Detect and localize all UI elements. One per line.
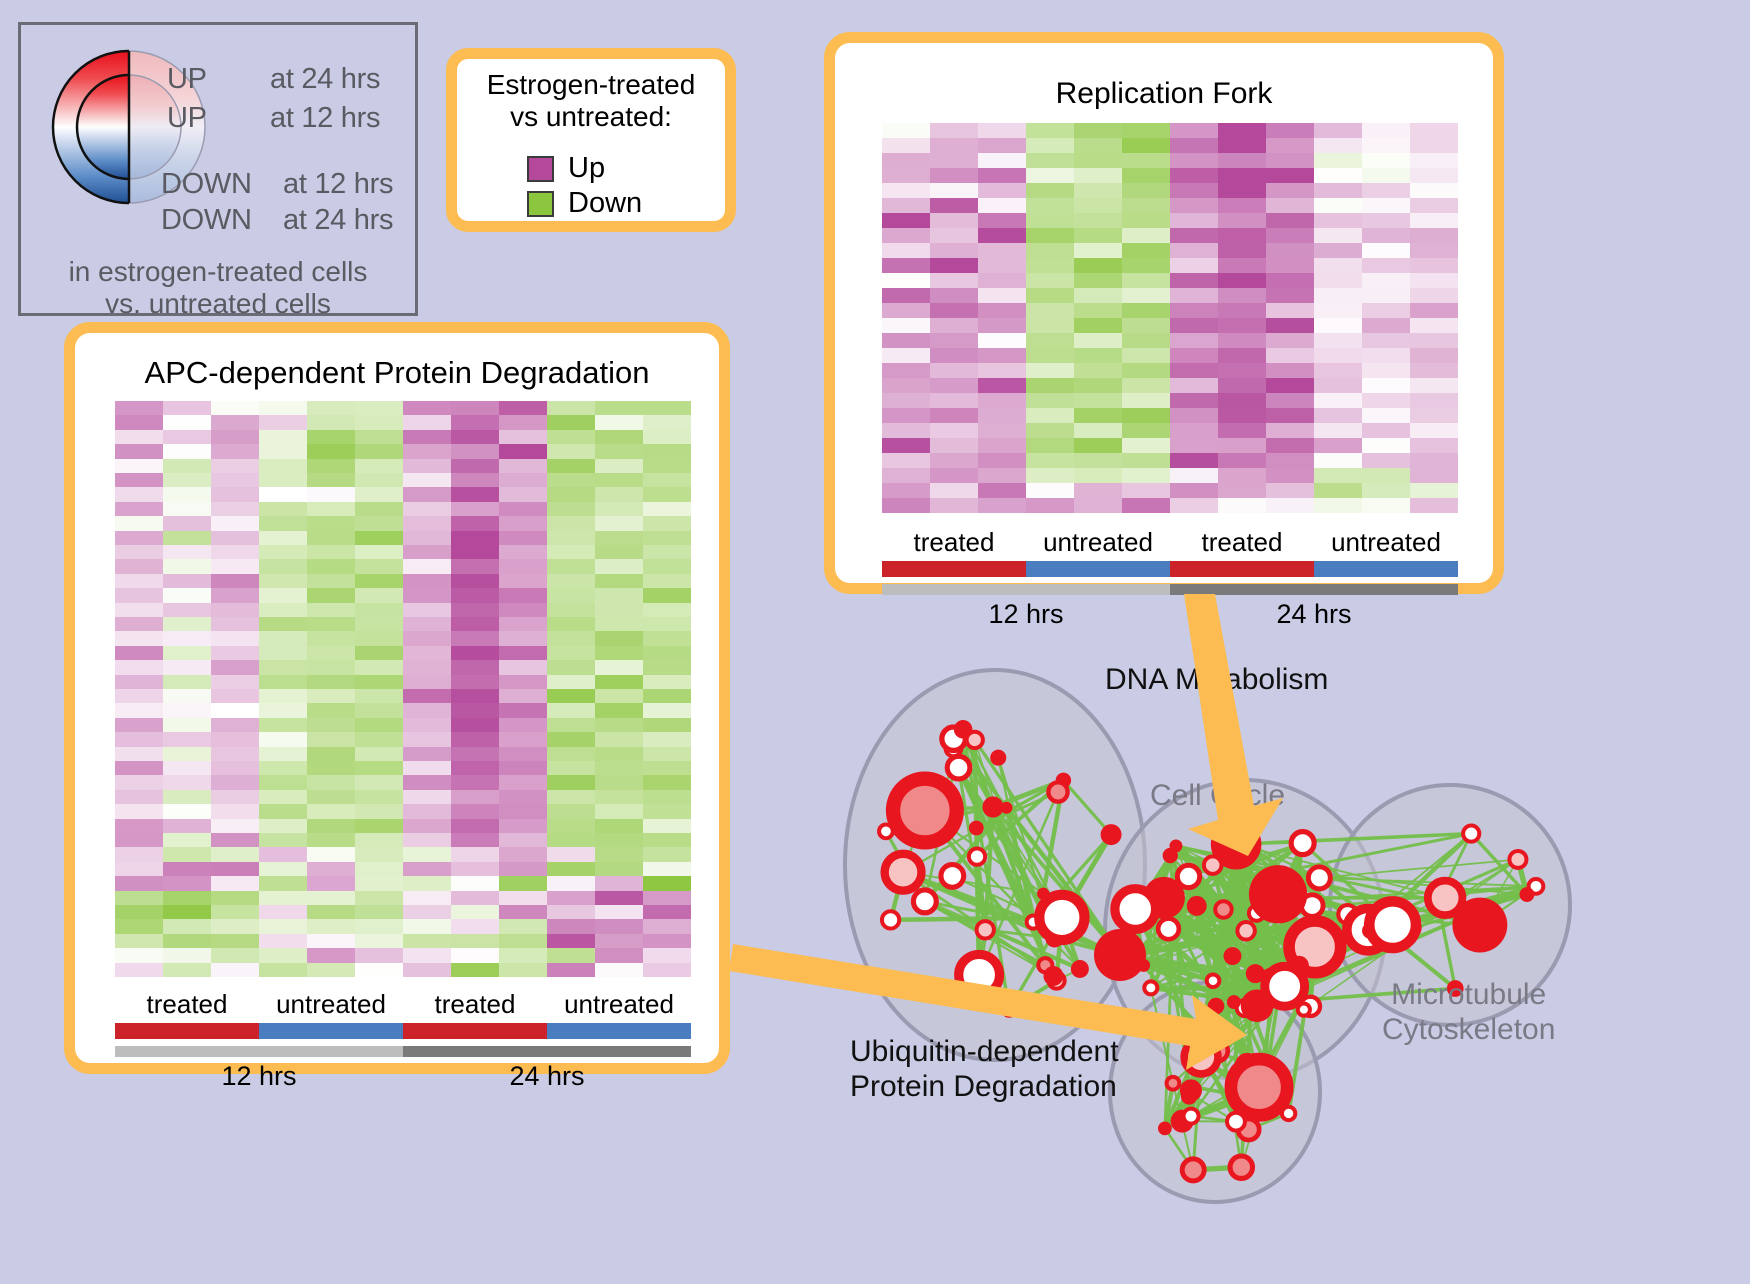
heatmap-cell — [499, 545, 547, 559]
heatmap-cell — [1218, 378, 1266, 393]
heatmap-cell — [259, 487, 307, 501]
heatmap-cell — [1362, 303, 1410, 318]
heatmap-cell — [355, 747, 403, 761]
heatmap-cell — [403, 646, 451, 660]
estrogen-legend-title: Estrogen-treated vs untreated: — [457, 69, 725, 134]
heatmap-cell — [547, 761, 595, 775]
heatmap-cell — [451, 574, 499, 588]
heatmap-cell — [451, 675, 499, 689]
heatmap-cell — [307, 617, 355, 631]
heatmap-cell — [499, 689, 547, 703]
heatmap-cell — [499, 819, 547, 833]
network-node — [1180, 1079, 1202, 1101]
heatmap-cell — [1314, 438, 1362, 453]
heatmap-cell — [547, 660, 595, 674]
heatmap-cell — [307, 646, 355, 660]
estrogen-legend-title-line2: vs untreated: — [457, 101, 725, 133]
heatmap-cell — [547, 516, 595, 530]
heatmap-cell — [259, 819, 307, 833]
heatmap-cell — [355, 487, 403, 501]
network-node — [1227, 995, 1241, 1009]
heatmap-cell — [355, 718, 403, 732]
heatmap-cell — [259, 747, 307, 761]
heatmap-cell — [547, 948, 595, 962]
heatmap-cell — [1410, 423, 1458, 438]
heatmap-cell — [355, 862, 403, 876]
heatmap-cell — [403, 790, 451, 804]
heatmap-cell — [1362, 168, 1410, 183]
heatmap-cell — [978, 378, 1026, 393]
sample-group-color-bar — [882, 561, 1458, 577]
sample-group-label-treated-2: treated — [1170, 527, 1314, 558]
network-node — [1071, 960, 1089, 978]
heatmap-cell — [1314, 138, 1362, 153]
heatmap-cell — [1362, 378, 1410, 393]
heatmap-cell — [259, 905, 307, 919]
heatmap-cell — [355, 934, 403, 948]
heatmap-cell — [499, 502, 547, 516]
heatmap-cell — [211, 459, 259, 473]
heatmap-cell — [1170, 258, 1218, 273]
heatmap-cell — [1074, 453, 1122, 468]
heatmap-cell — [403, 516, 451, 530]
heatmap-cell — [595, 790, 643, 804]
heatmap-cell — [547, 804, 595, 818]
heatmap-cell — [1266, 123, 1314, 138]
heatmap-cell — [115, 531, 163, 545]
network-node — [1265, 966, 1305, 1006]
heatmap-cell — [1122, 423, 1170, 438]
heatmap-cell — [882, 483, 930, 498]
heatmap-cell — [595, 588, 643, 602]
heatmap-cell — [547, 574, 595, 588]
heatmap-cell — [1410, 498, 1458, 513]
heatmap-cell — [882, 408, 930, 423]
heatmap-cell — [499, 617, 547, 631]
heatmap-cell — [1266, 318, 1314, 333]
heatmap-cell — [1362, 258, 1410, 273]
heatmap-cell — [882, 318, 930, 333]
heatmap-cell — [1218, 408, 1266, 423]
heatmap-cell — [1218, 228, 1266, 243]
heatmap-cell — [259, 761, 307, 775]
heatmap-cell — [643, 819, 691, 833]
heatmap-cell — [930, 483, 978, 498]
heatmap-cell — [978, 393, 1026, 408]
heatmap-cell — [451, 891, 499, 905]
heatmap-cell — [882, 258, 930, 273]
heatmap-cell — [930, 378, 978, 393]
heatmap-cell — [643, 603, 691, 617]
heatmap-cell — [1362, 243, 1410, 258]
heatmap-cell — [595, 444, 643, 458]
heatmap-cell — [1218, 498, 1266, 513]
heatmap-cell — [595, 430, 643, 444]
colorwheel-down-24-label: DOWN — [161, 204, 252, 237]
heatmap-cell — [1026, 243, 1074, 258]
heatmap-cell — [930, 213, 978, 228]
heatmap-cell — [930, 468, 978, 483]
sample-group-label-untreated-1: untreated — [259, 989, 403, 1020]
heatmap-cell — [643, 862, 691, 876]
heatmap-cell — [1410, 378, 1458, 393]
heatmap-cell — [211, 775, 259, 789]
heatmap-cell — [930, 198, 978, 213]
network-node — [1198, 1011, 1210, 1023]
cluster-label-cell-cycle: Cell Cycle — [1150, 778, 1285, 813]
heatmap-cell — [643, 948, 691, 962]
heatmap-cell — [1074, 318, 1122, 333]
heatmap-cell — [595, 876, 643, 890]
heatmap-cell — [115, 732, 163, 746]
heatmap-cell — [595, 833, 643, 847]
heatmap-cell — [643, 617, 691, 631]
heatmap-cell — [115, 703, 163, 717]
network-node — [1048, 782, 1067, 801]
heatmap-cell — [499, 833, 547, 847]
heatmap-cell — [355, 516, 403, 530]
heatmap-cell — [1170, 378, 1218, 393]
heatmap-cell — [643, 502, 691, 516]
heatmap-cell — [1218, 168, 1266, 183]
heatmap-cell — [259, 574, 307, 588]
heatmap-cell — [403, 804, 451, 818]
heatmap-cell — [451, 847, 499, 861]
heatmap-cell — [1314, 363, 1362, 378]
heatmap-cell — [211, 761, 259, 775]
heatmap-cell — [643, 876, 691, 890]
heatmap-cell — [1362, 393, 1410, 408]
heatmap-cell — [643, 588, 691, 602]
heatmap-cell — [1170, 198, 1218, 213]
heatmap-cell — [115, 761, 163, 775]
heatmap-cell — [930, 453, 978, 468]
heatmap-cell — [1314, 408, 1362, 423]
network-node — [1509, 851, 1526, 868]
heatmap-cell — [1410, 168, 1458, 183]
heatmap-cell — [403, 703, 451, 717]
heatmap-cell — [451, 919, 499, 933]
heatmap-cell — [451, 516, 499, 530]
heatmap-cell — [403, 934, 451, 948]
heatmap-cell — [163, 444, 211, 458]
heatmap-cell — [355, 804, 403, 818]
heatmap-cell — [643, 631, 691, 645]
heatmap-cell — [595, 675, 643, 689]
heatmap-cell — [1218, 453, 1266, 468]
heatmap-cell — [115, 675, 163, 689]
heatmap-cell — [355, 761, 403, 775]
heatmap-cell — [595, 891, 643, 905]
heatmap-cell — [307, 703, 355, 717]
heatmap-cell — [163, 790, 211, 804]
heatmap-cell — [1410, 363, 1458, 378]
network-node — [1182, 1159, 1204, 1181]
heatmap-cell — [451, 646, 499, 660]
heatmap-cell — [259, 963, 307, 977]
heatmap-cell — [1410, 153, 1458, 168]
network-node — [959, 954, 1000, 995]
heatmap-cell — [163, 473, 211, 487]
heatmap-cell — [1122, 363, 1170, 378]
heatmap-cell — [978, 183, 1026, 198]
heatmap-cell — [499, 675, 547, 689]
heatmap-cell — [115, 876, 163, 890]
heatmap-cell — [1410, 318, 1458, 333]
heatmap-cell — [643, 675, 691, 689]
heatmap-cell — [403, 948, 451, 962]
heatmap-cell — [978, 333, 1026, 348]
heatmap-cell — [930, 138, 978, 153]
heatmap-cell — [1170, 138, 1218, 153]
network-node — [1043, 966, 1063, 986]
heatmap-cell — [1122, 288, 1170, 303]
heatmap-cell — [499, 804, 547, 818]
heatmap-cell — [882, 213, 930, 228]
network-node — [1163, 848, 1178, 863]
heatmap-cell — [930, 168, 978, 183]
heatmap-cell — [1026, 468, 1074, 483]
heatmap-cell — [211, 747, 259, 761]
heatmap-cell — [355, 559, 403, 573]
heatmap-cell — [259, 862, 307, 876]
heatmap-cell — [930, 288, 978, 303]
heatmap-cell — [1170, 183, 1218, 198]
heatmap-cell — [643, 804, 691, 818]
network-node — [879, 824, 893, 838]
heatmap-cell — [1074, 438, 1122, 453]
colorwheel-up-12-label: UP — [167, 102, 207, 135]
heatmap-cell — [355, 703, 403, 717]
heatmap-cell — [1026, 483, 1074, 498]
colorwheel-at-down-12-label: at 12 hrs — [283, 168, 393, 201]
network-node — [1224, 947, 1242, 965]
heatmap-cell — [1074, 408, 1122, 423]
heatmap-cell — [930, 393, 978, 408]
heatmap-cell — [115, 747, 163, 761]
heatmap-cell — [1218, 198, 1266, 213]
heatmap-cell — [643, 444, 691, 458]
heatmap-cell — [307, 444, 355, 458]
heatmap-cell — [930, 318, 978, 333]
estrogen-legend-title-line1: Estrogen-treated — [457, 69, 725, 101]
heatmap-cell — [1074, 363, 1122, 378]
heatmap-cell — [978, 483, 1026, 498]
heatmap-cell — [403, 401, 451, 415]
heatmap-cell — [643, 689, 691, 703]
heatmap-cell — [211, 473, 259, 487]
heatmap-cell — [547, 531, 595, 545]
heatmap-cell — [547, 747, 595, 761]
heatmap-cell — [643, 919, 691, 933]
heatmap-cell — [403, 631, 451, 645]
heatmap-cell — [930, 303, 978, 318]
heatmap-cell — [451, 963, 499, 977]
colorwheel-at-24-label: at 24 hrs — [270, 63, 380, 96]
heatmap-cell — [499, 747, 547, 761]
heatmap-cell — [211, 833, 259, 847]
heatmap-cell — [259, 559, 307, 573]
heatmap-cell — [163, 487, 211, 501]
heatmap-cell — [595, 905, 643, 919]
heatmap-cell — [259, 646, 307, 660]
timepoint-swatch-1 — [403, 1046, 691, 1057]
heatmap-cell — [1074, 183, 1122, 198]
heatmap-cell — [1314, 318, 1362, 333]
heatmap-cell — [1410, 213, 1458, 228]
heatmap-cell — [1170, 453, 1218, 468]
heatmap-cell — [307, 459, 355, 473]
heatmap-cell — [307, 516, 355, 530]
heatmap-cell — [499, 732, 547, 746]
heatmap-cell — [451, 660, 499, 674]
heatmap-cell — [115, 919, 163, 933]
heatmap-cell — [259, 790, 307, 804]
heatmap-cell — [163, 876, 211, 890]
heatmap-cell — [403, 660, 451, 674]
heatmap-cell — [1410, 288, 1458, 303]
heatmap-cell — [499, 948, 547, 962]
network-node — [1519, 887, 1534, 902]
heatmap-cell — [1266, 348, 1314, 363]
sample-group-color-bar — [115, 1023, 691, 1039]
legend-item-up: Up — [527, 151, 642, 186]
heatmap-cell — [259, 516, 307, 530]
heatmap-cell — [355, 675, 403, 689]
heatmap-cell — [163, 747, 211, 761]
heatmap-cell — [163, 545, 211, 559]
heatmap-cell — [259, 891, 307, 905]
heatmap-cell — [451, 430, 499, 444]
network-node — [1208, 998, 1225, 1015]
heatmap-cell — [211, 444, 259, 458]
heatmap-cell — [1122, 333, 1170, 348]
heatmap-cell — [259, 934, 307, 948]
heatmap-cell — [1026, 378, 1074, 393]
heatmap-cell — [643, 934, 691, 948]
heatmap-cell — [451, 559, 499, 573]
heatmap-cell — [643, 747, 691, 761]
heatmap-cell — [1266, 153, 1314, 168]
heatmap-cell — [1218, 183, 1266, 198]
heatmap-cell — [1122, 123, 1170, 138]
heatmap-cell — [1122, 468, 1170, 483]
heatmap-cell — [403, 603, 451, 617]
heatmap-cell — [355, 459, 403, 473]
heatmap-cell — [403, 761, 451, 775]
heatmap-cell — [307, 631, 355, 645]
heatmap-cell — [882, 498, 930, 513]
heatmap-cell — [163, 833, 211, 847]
heatmap-cell — [643, 401, 691, 415]
heatmap-cell — [595, 473, 643, 487]
heatmap-cell — [211, 876, 259, 890]
heatmap-cell — [403, 732, 451, 746]
heatmap-cell — [547, 876, 595, 890]
heatmap-cell — [1122, 168, 1170, 183]
heatmap-cell — [595, 919, 643, 933]
heatmap-cell — [307, 531, 355, 545]
heatmap-cell — [163, 963, 211, 977]
heatmap-cell — [307, 919, 355, 933]
heatmap-cell — [1266, 483, 1314, 498]
heatmap-cell — [163, 804, 211, 818]
heatmap-cell — [547, 833, 595, 847]
heatmap-cell — [1218, 243, 1266, 258]
heatmap-cell — [211, 819, 259, 833]
heatmap-cell — [1026, 393, 1074, 408]
heatmap-cell — [115, 430, 163, 444]
heatmap-cell — [1266, 228, 1314, 243]
heatmap-cell — [499, 473, 547, 487]
heatmap-cell — [115, 718, 163, 732]
heatmap-cell — [403, 487, 451, 501]
network-node — [1463, 826, 1479, 842]
heatmap-cell — [259, 847, 307, 861]
heatmap-cell — [307, 963, 355, 977]
heatmap-cell — [1410, 273, 1458, 288]
heatmap-cell — [211, 401, 259, 415]
heatmap-cell — [451, 905, 499, 919]
heatmap-cell — [882, 453, 930, 468]
heatmap-cell — [1410, 258, 1458, 273]
heatmap-cell — [355, 646, 403, 660]
heatmap-cell — [1266, 183, 1314, 198]
heatmap-cell — [930, 273, 978, 288]
heatmap-cell — [307, 401, 355, 415]
heatmap-cell — [1266, 378, 1314, 393]
heatmap-cell — [978, 258, 1026, 273]
replication-fork-heatmap — [882, 123, 1458, 513]
network-node — [1249, 865, 1307, 923]
heatmap-cell — [115, 487, 163, 501]
timepoint-color-bar — [115, 1046, 691, 1057]
heatmap-cell — [307, 502, 355, 516]
heatmap-cell — [1074, 483, 1122, 498]
sample-group-label-treated-0: treated — [115, 989, 259, 1020]
heatmap-cell — [403, 473, 451, 487]
heatmap-cell — [211, 545, 259, 559]
heatmap-cell — [643, 559, 691, 573]
heatmap-cell — [163, 905, 211, 919]
heatmap-cell — [307, 804, 355, 818]
heatmap-cell — [1026, 423, 1074, 438]
heatmap-cell — [499, 761, 547, 775]
network-node — [1237, 922, 1255, 940]
heatmap-cell — [1314, 288, 1362, 303]
heatmap-cell — [259, 948, 307, 962]
network-node — [990, 750, 1006, 766]
heatmap-cell — [355, 948, 403, 962]
timepoint-swatch-0 — [115, 1046, 403, 1057]
heatmap-cell — [1122, 258, 1170, 273]
heatmap-cell — [1026, 363, 1074, 378]
colorwheel-at-down-24-label: at 24 hrs — [283, 204, 393, 237]
heatmap-cell — [595, 819, 643, 833]
heatmap-cell — [307, 847, 355, 861]
heatmap-cell — [403, 559, 451, 573]
heatmap-cell — [259, 617, 307, 631]
colorwheel-up-24-label: UP — [167, 63, 207, 96]
heatmap-cell — [930, 153, 978, 168]
heatmap-cell — [978, 273, 1026, 288]
heatmap-cell — [595, 804, 643, 818]
heatmap-cell — [1266, 408, 1314, 423]
heatmap-cell — [1122, 378, 1170, 393]
heatmap-cell — [1122, 138, 1170, 153]
heatmap-cell — [547, 415, 595, 429]
heatmap-cell — [1170, 273, 1218, 288]
